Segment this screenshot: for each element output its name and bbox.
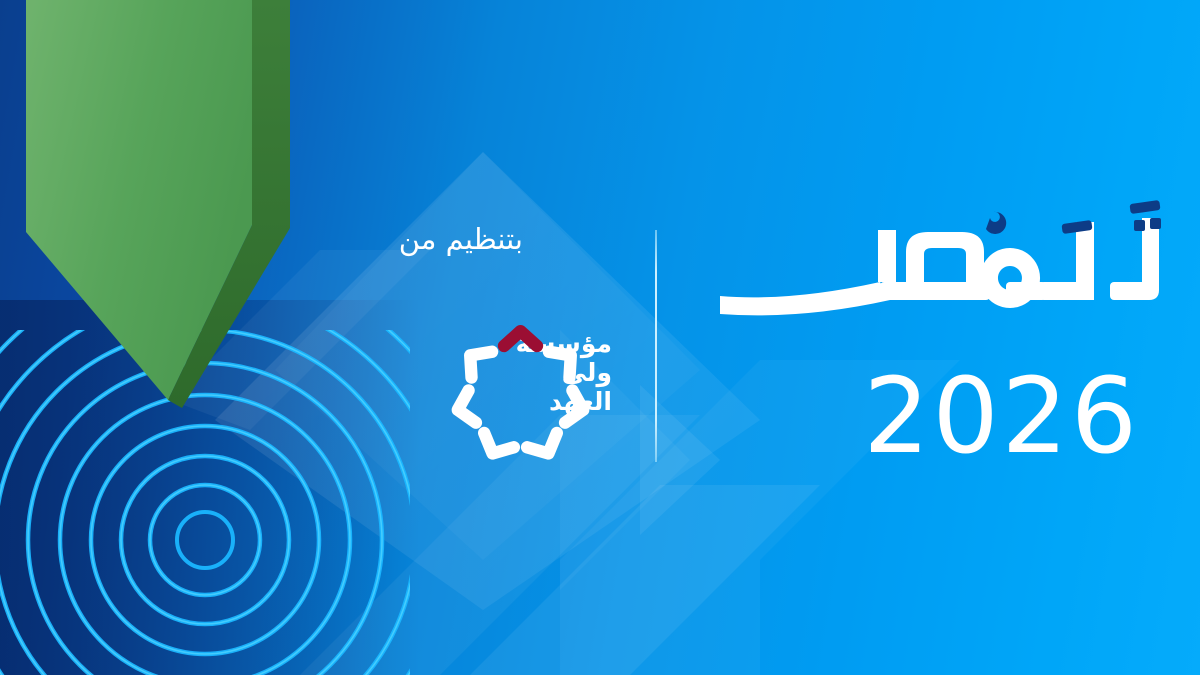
emblem-petal-accent — [504, 331, 537, 346]
foundation-emblem-icon — [438, 313, 603, 478]
organizer-logo-block: بتنظيم من مؤسسة وليّ العهد — [288, 225, 628, 475]
emblem-petal — [478, 433, 514, 461]
vertical-divider — [655, 230, 657, 462]
emblem-petal — [454, 390, 476, 425]
event-title-wordmark — [710, 196, 1180, 356]
emblem-petal — [565, 390, 587, 425]
diacritic-marks — [986, 200, 1161, 234]
organized-by-label: بتنظيم من — [399, 225, 523, 254]
emblem-petal — [460, 342, 492, 377]
promo-banner: بتنظيم من مؤسسة وليّ العهد — [0, 0, 1200, 675]
emblem-petal — [527, 433, 563, 461]
emblem-petal — [549, 342, 581, 377]
event-year: 2026 — [863, 364, 1140, 468]
event-title-block: 2026 — [700, 196, 1180, 486]
